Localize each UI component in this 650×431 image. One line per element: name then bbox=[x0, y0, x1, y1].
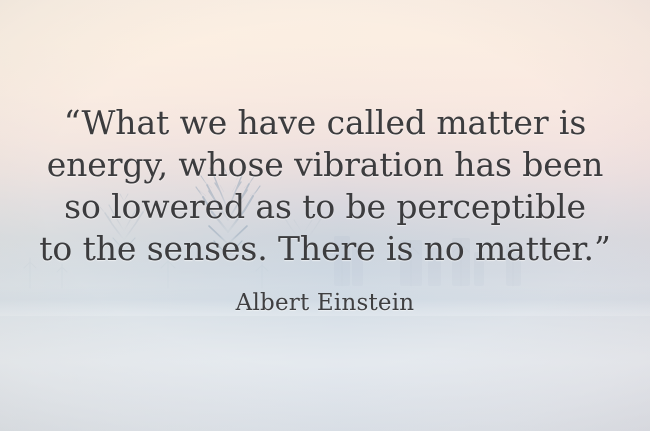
quote-line-3: so lowered as to be perceptible bbox=[0, 186, 650, 228]
quote-text: “What we have called matter is energy, w… bbox=[0, 102, 650, 270]
quote-line-4: to the senses. There is no matter.” bbox=[0, 228, 650, 270]
quote-line-2: energy, whose vibration has been bbox=[0, 144, 650, 186]
quote-card: “What we have called matter is energy, w… bbox=[0, 0, 650, 431]
quote-attribution: Albert Einstein bbox=[0, 288, 650, 318]
quote-line-1: “What we have called matter is bbox=[0, 102, 650, 144]
